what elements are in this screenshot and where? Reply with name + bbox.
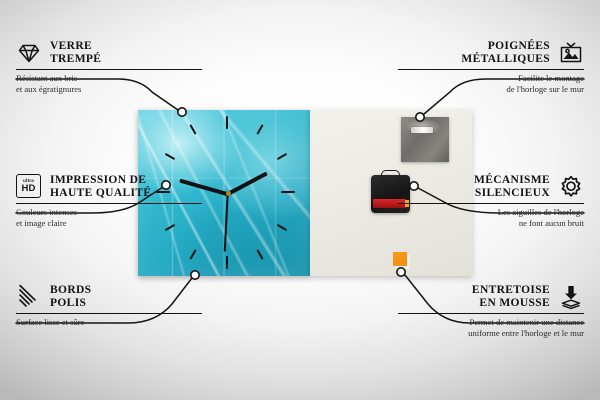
polished-edges-icon [16, 284, 42, 310]
feature-mecanisme-silencieux: MÉCANISME SILENCIEUX Les aiguilles de l'… [398, 174, 584, 228]
feature-desc-line2: ne font aucun bruit [398, 218, 584, 228]
feature-title-line1: MÉCANISME [474, 174, 550, 187]
feature-impression-haute-qualite: ultra HD IMPRESSION DE HAUTE QUALITÉ Cou… [16, 174, 202, 228]
marker-entretoise [397, 268, 405, 276]
clock-tick [226, 116, 228, 129]
divider [16, 313, 202, 314]
feature-bords-polis: BORDS POLIS Surface lisse et sûre [16, 284, 202, 328]
feature-desc-line2: et image claire [16, 218, 202, 228]
feature-title-line2: POLIS [50, 297, 91, 310]
feature-desc-line1: Les aiguilles de l'horloge [398, 207, 584, 217]
feature-poignees-metalliques: POIGNÉES MÉTALLIQUES Facilite le montage… [398, 40, 584, 94]
feature-desc-line1: Surface lisse et sûre [16, 317, 202, 327]
feature-desc-line1: Couleurs intenses [16, 207, 202, 217]
feature-title-line1: VERRE [50, 40, 101, 53]
feature-title-line1: BORDS [50, 284, 91, 297]
feature-entretoise-en-mousse: ENTRETOISE EN MOUSSE Permet de maintenir… [398, 284, 584, 338]
feature-title-line2: MÉTALLIQUES [461, 53, 550, 66]
feature-desc-line2: et aux égratignures [16, 84, 202, 94]
feature-desc-line1: Résistant aux bris [16, 73, 202, 83]
feature-title-line2: TREMPÉ [50, 53, 101, 66]
marker-bords-polis [191, 271, 199, 279]
gear-icon [558, 174, 584, 200]
feature-desc-line2: uniforme entre l'horloge et le mur [398, 328, 584, 338]
clock-tick [226, 256, 228, 269]
ultra-hd-icon: ultra HD [16, 174, 42, 200]
feature-title-line2: HAUTE QUALITÉ [50, 187, 151, 200]
divider [16, 203, 202, 204]
feature-desc-line1: Permet de maintenir une distance [398, 317, 584, 327]
foam-spacer-icon [558, 284, 584, 310]
marker-poignees [416, 113, 424, 121]
picture-hanger-icon [558, 40, 584, 66]
feature-desc-line1: Facilite le montage [398, 73, 584, 83]
divider [398, 203, 584, 204]
divider [398, 69, 584, 70]
marker-verre-trempe [178, 108, 186, 116]
feature-title-line1: IMPRESSION DE [50, 174, 151, 187]
ultra-hd-main-text: HD [21, 184, 35, 194]
divider [16, 69, 202, 70]
diamond-icon [16, 40, 42, 66]
feature-desc-line2: de l'horloge sur le mur [398, 84, 584, 94]
clock-center-pivot [226, 191, 231, 196]
feature-title-line1: POIGNÉES [461, 40, 550, 53]
feature-title-line2: EN MOUSSE [472, 297, 550, 310]
feature-verre-trempe: VERRE TREMPÉ Résistant aux bris et aux é… [16, 40, 202, 94]
divider [398, 313, 584, 314]
feature-title-line1: ENTRETOISE [472, 284, 550, 297]
feature-title-line2: SILENCIEUX [474, 187, 550, 200]
